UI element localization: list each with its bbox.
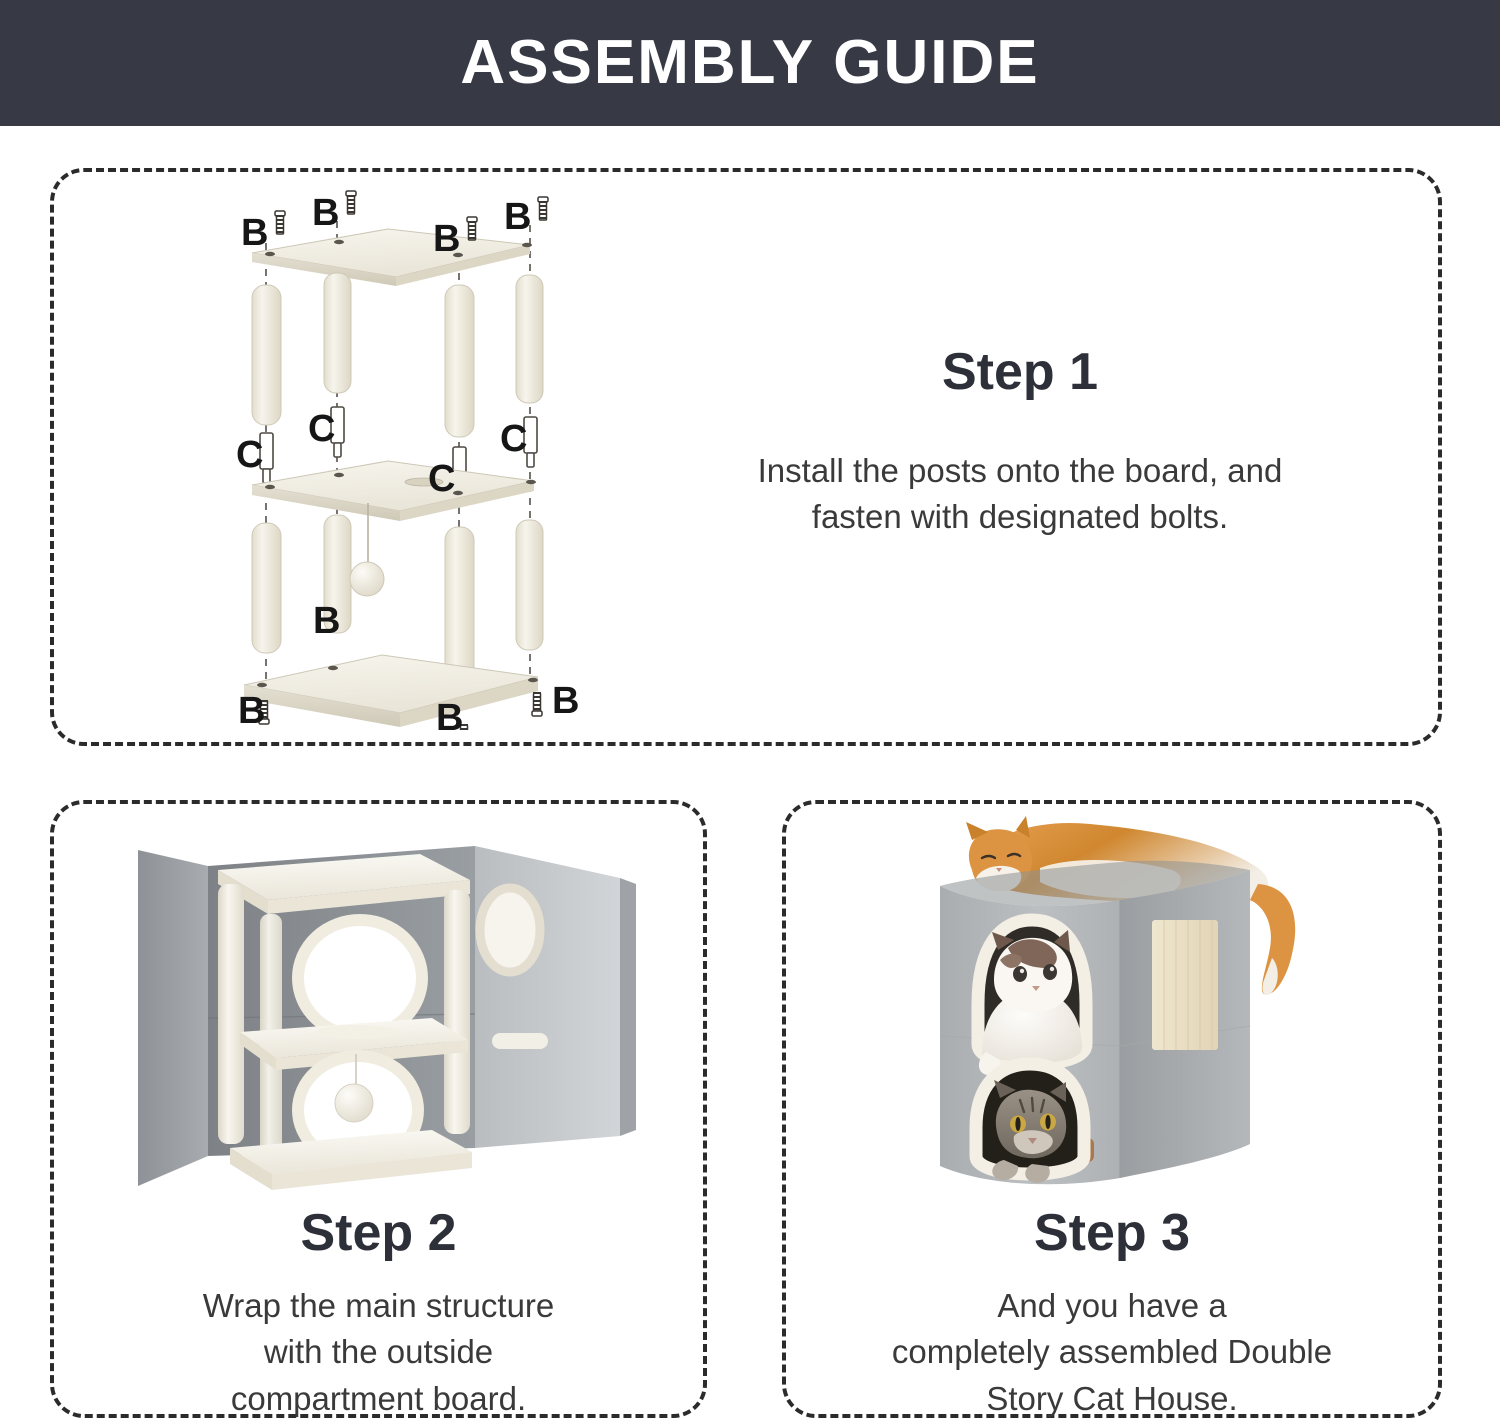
step-3-text-block: Step 3 And you have a completely assembl… (798, 1206, 1426, 1423)
step-1-text-block: Step 1 Install the posts onto the board,… (660, 345, 1380, 541)
sisal-scratch-pad (1152, 920, 1218, 1050)
step-2-body-line: compartment board. (66, 1376, 691, 1423)
step-3-body-line: completely assembled Double (798, 1329, 1426, 1376)
bottom-board (244, 655, 538, 727)
label-B: B (313, 600, 340, 642)
upper-oval-opening (298, 920, 422, 1036)
step-1-body-line: Install the posts onto the board, and (660, 448, 1380, 495)
step-2-body-line: with the outside (66, 1329, 691, 1376)
label-B: B (504, 196, 531, 238)
label-B: B (312, 192, 339, 234)
label-C: C (236, 434, 263, 476)
step-2-heading: Step 2 (66, 1206, 691, 1261)
step-3-body: And you have a completely assembled Doub… (798, 1283, 1426, 1424)
step-3-body-line: Story Cat House. (798, 1376, 1426, 1423)
side-slot-handle (492, 1033, 548, 1049)
label-C: C (500, 418, 527, 460)
upper-posts (252, 273, 543, 437)
side-porthole (480, 888, 540, 972)
step-3-heading: Step 3 (798, 1206, 1426, 1261)
step-2-text-block: Step 2 Wrap the main structure with the … (66, 1206, 691, 1423)
felt-left-panel (138, 850, 208, 1186)
step-2-illustration (120, 818, 650, 1210)
step-3-body-line: And you have a (798, 1283, 1426, 1330)
label-C: C (308, 408, 335, 450)
top-board (252, 229, 532, 286)
label-B: B (436, 697, 463, 730)
felt-panel-edge (620, 878, 636, 1136)
step-1-body: Install the posts onto the board, and fa… (660, 448, 1380, 542)
label-B: B (241, 212, 268, 254)
step-1-exploded-diagram: B B B B C C C C B B B B (200, 185, 630, 730)
step-2-body-line: Wrap the main structure (66, 1283, 691, 1330)
step-3-illustration (920, 808, 1310, 1206)
step-1-body-line: fasten with designated bolts. (660, 494, 1380, 541)
header-bar: ASSEMBLY GUIDE (0, 0, 1500, 126)
label-B: B (238, 690, 265, 730)
step-2-body: Wrap the main structure with the outside… (66, 1283, 691, 1424)
page-title: ASSEMBLY GUIDE (460, 32, 1039, 94)
step-1-heading: Step 1 (660, 345, 1380, 400)
label-B: B (552, 680, 579, 722)
middle-board (252, 461, 536, 521)
label-B: B (433, 218, 460, 260)
label-C: C (428, 458, 455, 500)
